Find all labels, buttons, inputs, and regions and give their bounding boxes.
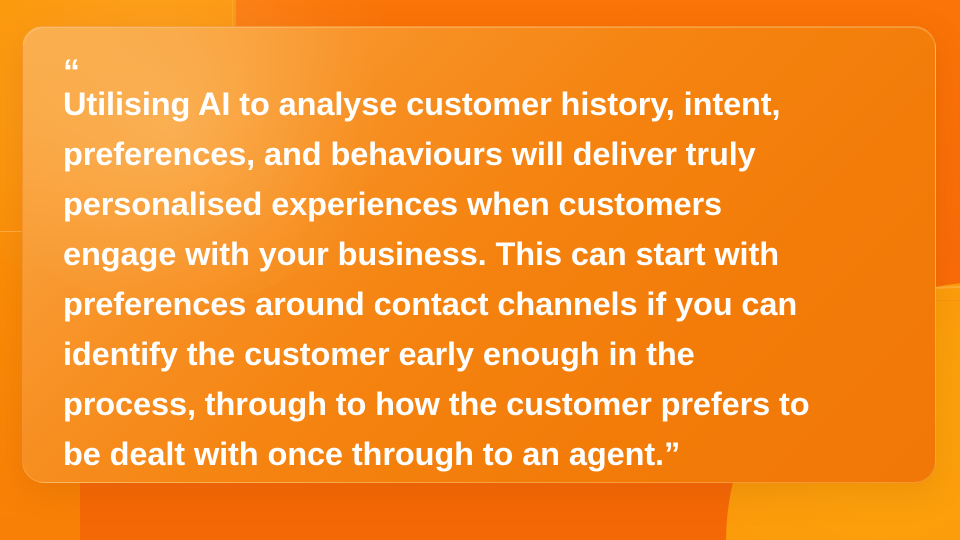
quote-text-block: Utilising AI to analyse customer history…	[63, 79, 895, 479]
background-seam-top	[232, 0, 233, 27]
quote-text: Utilising AI to analyse customer history…	[63, 79, 895, 479]
quote-card: “ Utilising AI to analyse customer histo…	[22, 26, 936, 483]
quote-content: “ Utilising AI to analyse customer histo…	[23, 27, 935, 479]
slide-canvas: “ Utilising AI to analyse customer histo…	[0, 0, 960, 540]
